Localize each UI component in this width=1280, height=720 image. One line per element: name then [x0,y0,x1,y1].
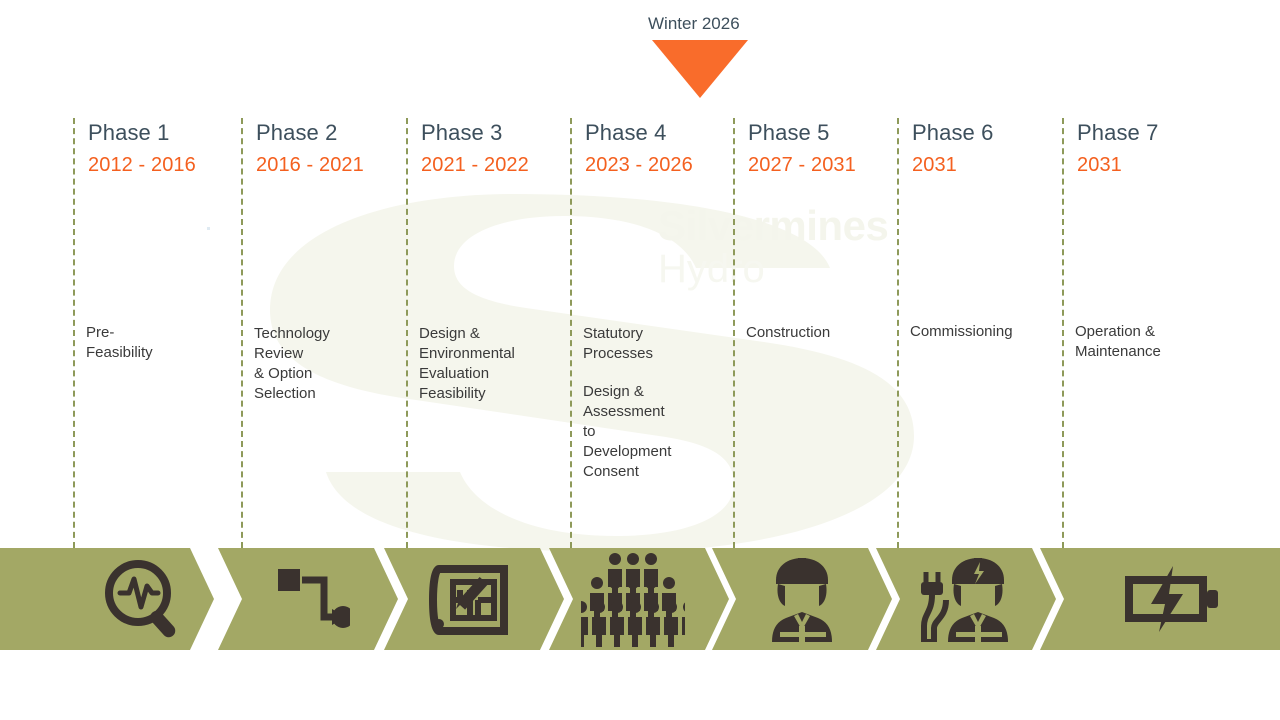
phase-header-7: Phase 7 2031 [1077,120,1158,178]
construction-worker-icon [764,556,840,642]
phase-years: 2031 [912,152,993,178]
phase-divider-5 [733,118,735,548]
phase-tasks-7: Operation & Maintenance [1075,322,1161,362]
phase-task: Operation & Maintenance [1075,322,1161,362]
phase-chevron-2 [218,548,398,650]
phase-task: Technology Review & Option Selection [254,324,330,404]
phase-header-4: Phase 4 2023 - 2026 [585,120,693,178]
phase-years: 2023 - 2026 [585,152,693,178]
phase-header-2: Phase 2 2016 - 2021 [256,120,364,178]
phase-divider-6 [897,118,899,548]
phase-years: 2012 - 2016 [88,152,196,178]
phase-chevron-5 [712,548,892,650]
phase-divider-1 [73,118,75,548]
phase-task: Pre-Feasibility [86,323,153,363]
phase-task: Design & Assessment to Development Conse… [583,382,671,482]
phase-chevron-4 [549,548,729,650]
phase-title: Phase 4 [585,120,693,146]
phase-divider-4 [570,118,572,548]
phase-header-6: Phase 6 2031 [912,120,993,178]
wordmark-line-1: Silvermines [658,205,888,247]
phase-header-3: Phase 3 2021 - 2022 [421,120,529,178]
phase-years: 2016 - 2021 [256,152,364,178]
phase-title: Phase 7 [1077,120,1158,146]
blueprint-pencil-icon [426,560,512,638]
current-date-marker: Winter 2026 [648,14,848,98]
wordmark-line-2: Hydro [658,249,888,289]
phase-task: Design & Environmental Evaluation Feasib… [419,324,515,404]
phase-years: 2031 [1077,152,1158,178]
phase-tasks-3: Design & Environmental Evaluation Feasib… [419,324,515,404]
phase-task: Statutory Processes [583,324,671,364]
magnifier-pulse-icon [100,559,186,639]
phase-title: Phase 6 [912,120,993,146]
phase-tasks-2: Technology Review & Option Selection [254,324,330,404]
phase-divider-2 [241,118,243,548]
community-group-icon [581,551,685,647]
phase-divider-7 [1062,118,1064,548]
phase-task: Construction [746,323,830,343]
phase-years: 2027 - 2031 [748,152,856,178]
phase-title: Phase 2 [256,120,364,146]
phase-tasks-6: Commissioning [910,322,1013,342]
phase-divider-3 [406,118,408,548]
phase-chevron-1 [0,548,214,650]
phase-chevron-7 [1040,548,1280,650]
phase-tasks-5: Construction [746,323,830,343]
phase-title: Phase 3 [421,120,529,146]
phase-chevron-6 [876,548,1056,650]
phase-icon-strip [0,548,1280,650]
phase-tasks-1: Pre-Feasibility [86,323,153,363]
triangle-down-icon [652,40,748,98]
process-flow-icon [274,563,350,635]
phase-title: Phase 1 [88,120,196,146]
battery-charging-icon [1121,564,1221,634]
phase-title: Phase 5 [748,120,856,146]
marker-label: Winter 2026 [648,14,848,34]
phase-years: 2021 - 2022 [421,152,529,178]
timeline-slide: Silvermines Hydro Winter 2026 Phase 1 20… [0,0,1280,720]
electrician-worker-icon [916,556,1016,642]
stray-pixel-artifact [207,227,210,230]
phase-tasks-4: Statutory Processes Design & Assessment … [583,324,671,482]
phase-header-5: Phase 5 2027 - 2031 [748,120,856,178]
phase-header-1: Phase 1 2012 - 2016 [88,120,196,178]
silvermines-hydro-wordmark-watermark: Silvermines Hydro [658,205,888,289]
phase-task: Commissioning [910,322,1013,342]
phase-chevron-3 [384,548,564,650]
